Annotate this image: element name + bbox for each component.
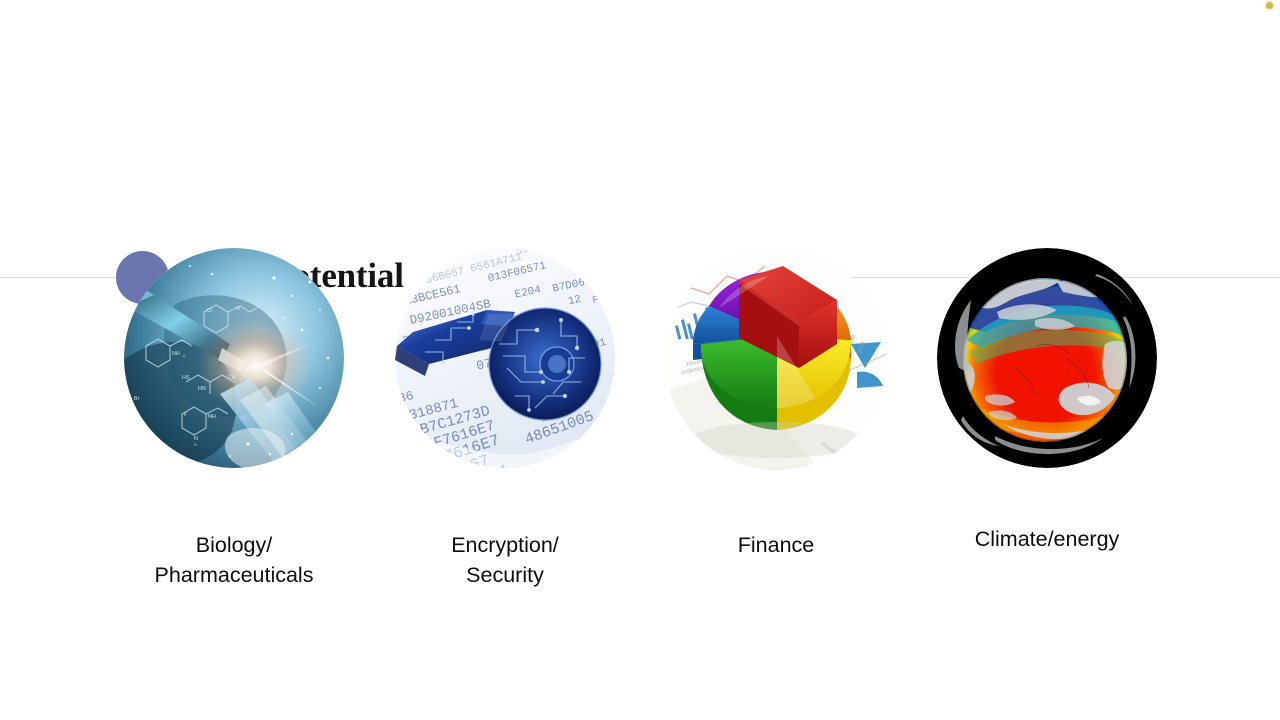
card-finance[interactable]: Revenue projection Mkt 2014 e Assumption… xyxy=(665,248,887,470)
svg-text:HS: HS xyxy=(182,375,190,381)
svg-text:CH: CH xyxy=(228,375,236,381)
card-caption: Climate/energy xyxy=(917,524,1177,554)
card-caption: Biology/ Pharmaceuticals xyxy=(114,530,354,590)
svg-text:3: 3 xyxy=(239,378,241,382)
card-caption: Finance xyxy=(656,530,896,560)
potential-areas-grid: NH2 HS HN CH3 Cl N F NH NH Br xyxy=(0,248,1280,608)
svg-text:F: F xyxy=(592,295,600,307)
card-climate-energy[interactable]: Climate/energy xyxy=(937,248,1157,468)
svg-text:N: N xyxy=(194,436,198,442)
climate-energy-globe-photo xyxy=(937,248,1157,468)
corner-accent-dot xyxy=(1266,2,1273,9)
svg-text:N: N xyxy=(236,306,240,312)
svg-text:NH: NH xyxy=(208,414,216,420)
biology-pharmaceuticals-photo: NH2 HS HN CH3 Cl N F NH NH Br xyxy=(124,248,344,468)
svg-text:HN: HN xyxy=(198,386,206,392)
svg-text:C6: C6 xyxy=(574,250,588,263)
card-encryption-security[interactable]: 664 36B657 6561A711 19 9A3BCE561 013F065… xyxy=(395,248,615,468)
svg-text:Br: Br xyxy=(134,396,140,402)
svg-text:NH: NH xyxy=(172,351,180,357)
slide-canvas: The potential xyxy=(0,0,1280,720)
card-caption: Encryption/ Security xyxy=(385,530,625,590)
encryption-security-photo: 664 36B657 6561A711 19 9A3BCE561 013F065… xyxy=(395,248,615,468)
card-biology-pharmaceuticals[interactable]: NH2 HS HN CH3 Cl N F NH NH Br xyxy=(124,248,344,468)
svg-text:H: H xyxy=(194,443,197,447)
svg-text:Cl: Cl xyxy=(207,308,212,314)
finance-pie-chart-photo: Revenue projection Mkt 2014 e Assumption… xyxy=(665,248,887,470)
svg-text:2: 2 xyxy=(183,354,185,358)
slide-header: The potential xyxy=(0,120,1280,198)
